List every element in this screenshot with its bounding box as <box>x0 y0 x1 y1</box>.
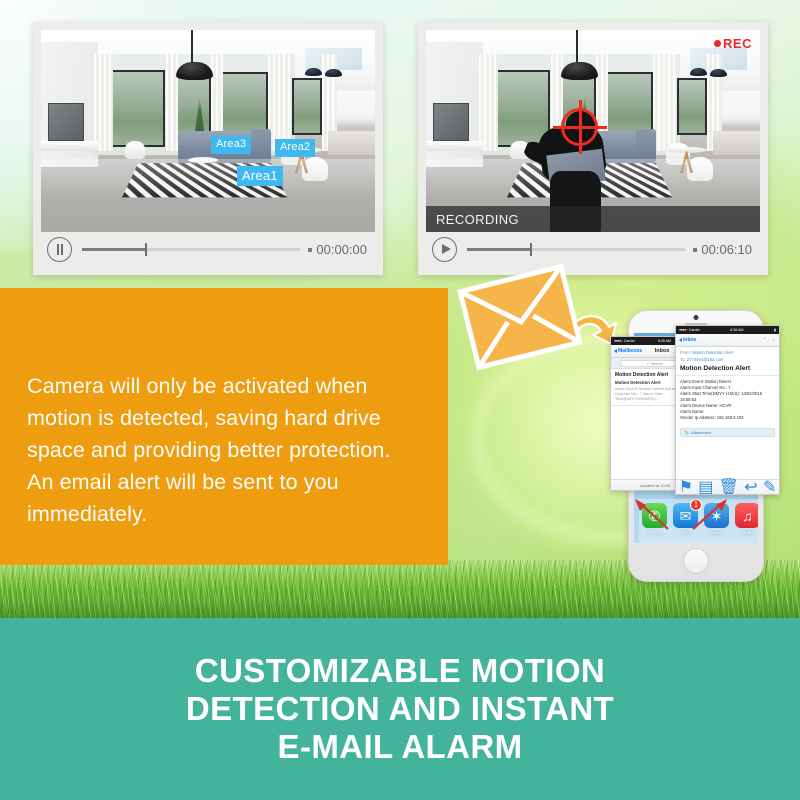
title-line-3: E-MAIL ALARM <box>278 728 523 766</box>
attachment-row[interactable]: 📎 Attachment <box>680 428 775 437</box>
dock-label-music: Music <box>735 530 758 535</box>
trash-icon[interactable]: 🗑 <box>719 477 739 495</box>
back-to-inbox-button[interactable]: Inbox <box>679 337 696 343</box>
music-icon[interactable]: ♫ <box>735 503 758 528</box>
live-view-time-text: 00:00:00 <box>316 242 367 257</box>
detail-status-time: 8:36 AM <box>730 328 743 332</box>
area-tag-1[interactable]: Area1 <box>237 166 283 186</box>
inbox-status-time: 8:36 AM <box>658 339 671 343</box>
paperclip-icon: 📎 <box>684 430 689 435</box>
signal-dots-icon: ●●●●○ <box>679 328 687 332</box>
inbox-carrier: Carrier <box>624 339 635 343</box>
live-view-panel: Area3 Area2 Area1 00:00:00 <box>33 22 383 275</box>
time-marker-icon <box>693 248 697 252</box>
to-row: To: 2774444@163.com <box>680 357 775 362</box>
arrow-to-inbox-icon <box>632 497 672 536</box>
flag-icon[interactable]: ⚑ <box>679 477 693 495</box>
mail-detail-toolbar: ⚑ ▤ 🗑 ↩ ✎ <box>676 479 779 494</box>
callout-box: Camera will only be activated when motio… <box>0 288 448 565</box>
recording-screen: REC RECORDING <box>426 30 760 232</box>
live-view-screen: Area3 Area2 Area1 <box>41 30 375 232</box>
rec-label: REC <box>723 36 752 51</box>
chevron-up-icon[interactable]: ⌃ <box>763 337 767 343</box>
rec-indicator: REC <box>714 36 752 51</box>
battery-icon: ▮ <box>774 328 776 332</box>
body-line: Sender Ip Address: 192.168.0.102 <box>680 415 775 421</box>
dock-app-music[interactable]: ♫ Music <box>735 503 758 535</box>
pause-icon[interactable] <box>47 237 72 262</box>
mail-detail-window: ●●●●○ Carrier 8:36 AM ▮ Inbox ⌃ ⌄ From: … <box>675 325 780 495</box>
from-label: From: <box>680 350 691 355</box>
to-value: 2774444@163.com <box>687 357 724 362</box>
search-icon: ⌕ <box>647 361 649 366</box>
attachment-label: Attachment <box>691 430 711 435</box>
arrow-to-detail-icon <box>690 497 730 536</box>
detail-carrier: Carrier <box>689 328 700 332</box>
poster-stage: Area3 Area2 Area1 00:00:00 <box>0 0 800 800</box>
time-marker-icon <box>308 248 312 252</box>
live-view-progress-slider[interactable] <box>82 248 300 251</box>
front-camera-icon <box>694 315 699 320</box>
chevron-left-icon <box>679 338 682 342</box>
mail-subject: Motion Detection Alert <box>676 364 779 376</box>
area-tag-3[interactable]: Area3 <box>211 136 251 154</box>
play-icon[interactable] <box>432 237 457 262</box>
progress-knob[interactable] <box>530 243 532 256</box>
title-line-2: DETECTION AND INSTANT <box>186 690 614 728</box>
recording-banner: RECORDING <box>426 206 760 232</box>
progress-knob[interactable] <box>145 243 147 256</box>
title-line-1: CUSTOMIZABLE MOTION <box>195 652 605 690</box>
from-value: Motion Detection Alert <box>692 350 733 355</box>
to-label: To: <box>680 357 686 362</box>
compose-icon[interactable]: ✎ <box>763 477 776 495</box>
recording-timestamp: 00:06:10 <box>693 242 752 257</box>
detail-status-bar: ●●●●○ Carrier 8:36 AM ▮ <box>676 326 779 334</box>
rec-dot-icon <box>714 40 721 47</box>
back-to-mailboxes-button[interactable]: Mailboxes <box>614 348 642 354</box>
music-glyph: ♫ <box>742 509 753 523</box>
room-scene-image <box>41 30 375 232</box>
title-band: CUSTOMIZABLE MOTION DETECTION AND INSTAN… <box>0 618 800 800</box>
recording-progress-slider[interactable] <box>467 248 685 251</box>
reply-icon[interactable]: ↩ <box>744 477 757 495</box>
search-placeholder: Search <box>651 361 664 366</box>
mail-header-meta: From: Motion Detection Alert To: 2774444… <box>676 347 779 364</box>
recording-panel: REC RECORDING 00:06:10 <box>418 22 768 275</box>
area-tag-2[interactable]: Area2 <box>275 139 315 157</box>
signal-dots-icon: ●●●●○ <box>614 339 622 343</box>
back-label: Inbox <box>683 337 696 343</box>
chevron-down-icon[interactable]: ⌄ <box>772 337 776 343</box>
home-button[interactable] <box>683 548 709 574</box>
live-view-player-bar: 00:00:00 <box>41 232 375 267</box>
back-label: Mailboxes <box>618 348 642 354</box>
inbox-title: Inbox <box>655 348 670 354</box>
detail-nav-bar: Inbox ⌃ ⌄ <box>676 334 779 347</box>
from-row: From: Motion Detection Alert <box>680 350 775 355</box>
folder-icon[interactable]: ▤ <box>698 477 713 495</box>
recording-player-bar: 00:06:10 <box>426 232 760 267</box>
callout-text: Camera will only be activated when motio… <box>27 370 419 530</box>
recording-time-text: 00:06:10 <box>701 242 752 257</box>
target-crosshair-icon <box>561 108 598 146</box>
chevron-left-icon <box>614 349 617 353</box>
live-view-timestamp: 00:00:00 <box>308 242 367 257</box>
mail-body: Alarm Event: Motion Detect Alarm Input C… <box>676 376 779 424</box>
